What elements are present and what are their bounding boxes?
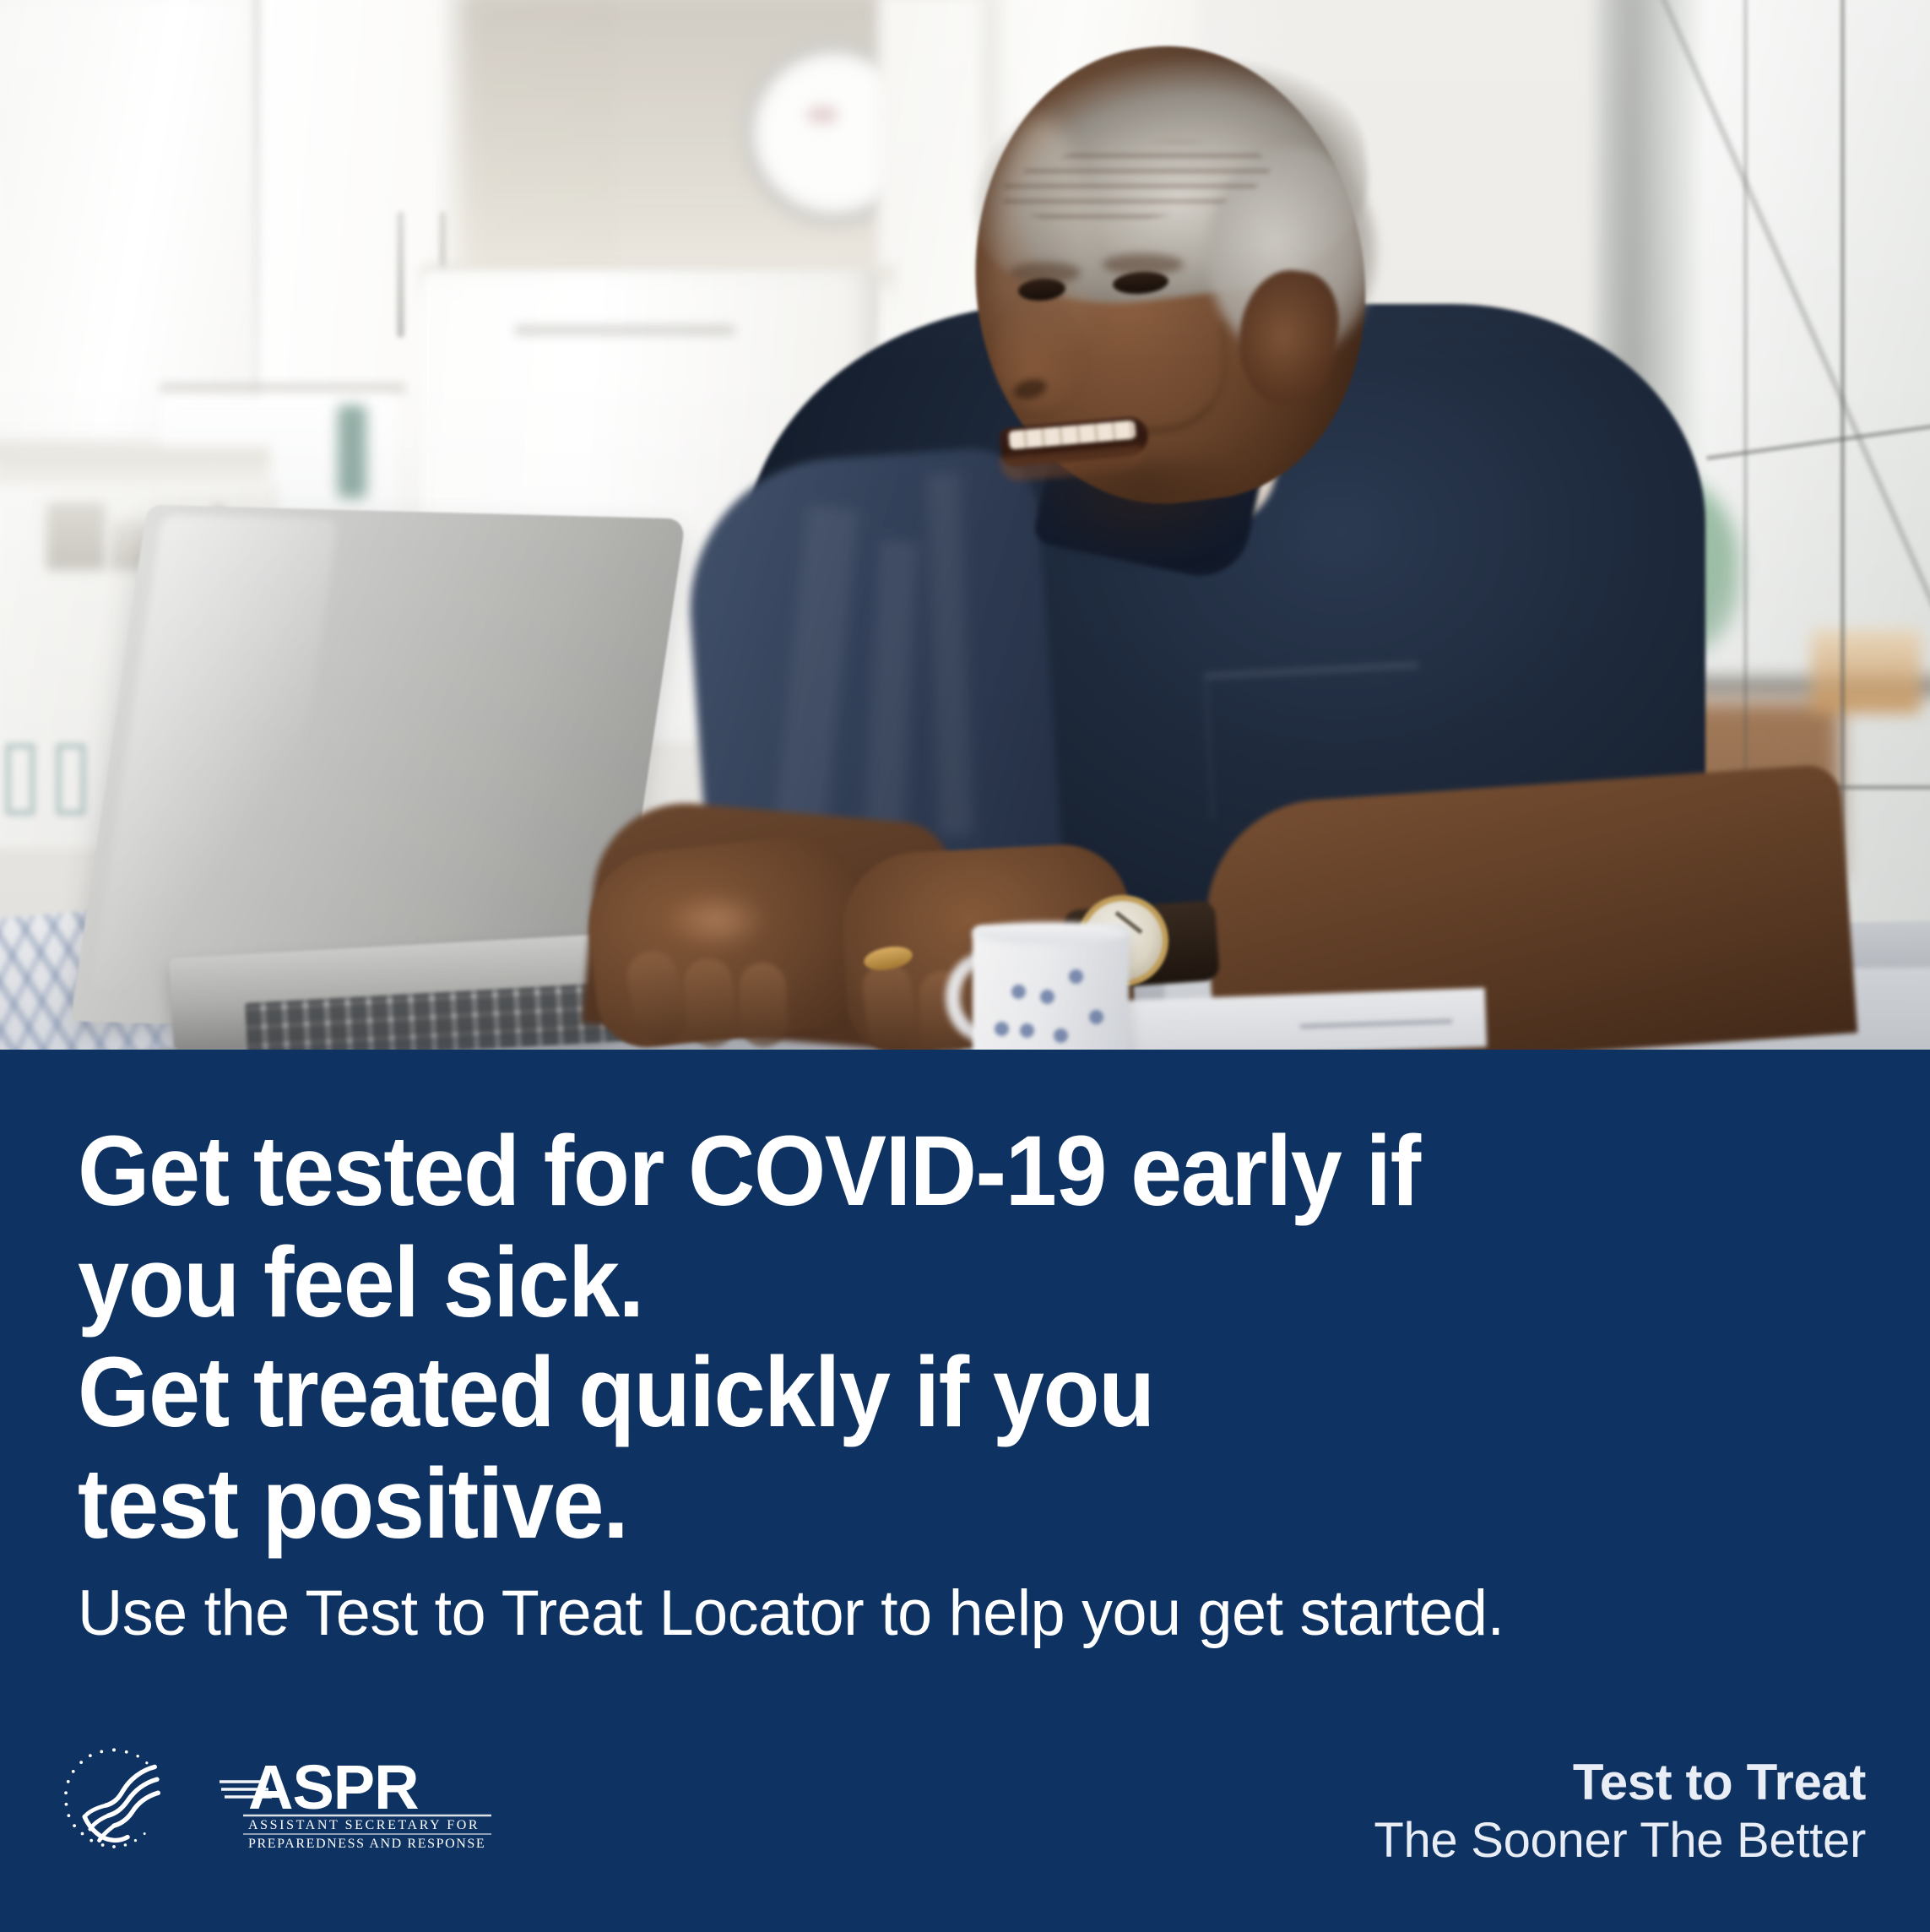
cabinet-edge: [253, 0, 260, 448]
mug-dot: [1011, 985, 1026, 999]
svg-text:PREPAREDNESS AND RESPONSE: PREPAREDNESS AND RESPONSE: [248, 1837, 485, 1849]
brand-lockup: Test to Treat The Sooner The Better: [1374, 1756, 1866, 1868]
hero-photo: [0, 0, 1930, 1050]
hhs-seal-icon: [57, 1742, 171, 1855]
agency-logo-group: ASPR ASSISTANT SECRETARY FOR PREPAREDNES…: [57, 1742, 491, 1855]
svg-text:ASPR: ASPR: [248, 1752, 419, 1822]
mug-rim: [973, 922, 1129, 944]
refrigerator-vent: [515, 325, 735, 335]
window-mullion-left: [160, 384, 405, 393]
mug-dot: [995, 1022, 1009, 1036]
cabinet-handle-left: [397, 211, 404, 338]
mug-dot: [1089, 1010, 1103, 1024]
green-accent: [338, 405, 366, 498]
chin-shadow: [1030, 460, 1258, 562]
mug-dot: [1040, 990, 1054, 1004]
headline-secondary: Get treated quickly if you test positive…: [78, 1337, 1154, 1560]
brand-tagline: The Sooner The Better: [1374, 1814, 1866, 1868]
counter-object-a: [46, 502, 106, 570]
subheadline: Use the Test to Treat Locator to help yo…: [78, 1577, 1504, 1650]
jar: [1811, 629, 1921, 714]
mug-dot: [1020, 1023, 1034, 1038]
lower-cabinet-handle-a: [5, 743, 35, 816]
brand-title: Test to Treat: [1374, 1756, 1866, 1810]
svg-text:ASSISTANT SECRETARY FOR: ASSISTANT SECRETARY FOR: [248, 1818, 480, 1832]
counter-left: [0, 448, 270, 490]
knuckle-highlight: [667, 891, 768, 950]
mug-dot: [1069, 969, 1083, 984]
lower-cabinet-handle-b: [56, 743, 86, 816]
headline-primary: Get tested for COVID-19 early if you fee…: [78, 1115, 1420, 1338]
message-panel: Get tested for COVID-19 early if you fee…: [0, 1050, 1930, 1932]
mug-dot: [1054, 1028, 1068, 1043]
campaign-poster: Get tested for COVID-19 early if you fee…: [0, 0, 1930, 1932]
finger-left-3: [738, 962, 788, 1048]
aspr-logo: ASPR ASSISTANT SECRETARY FOR PREPAREDNES…: [220, 1748, 491, 1849]
clock-center: [806, 106, 838, 124]
